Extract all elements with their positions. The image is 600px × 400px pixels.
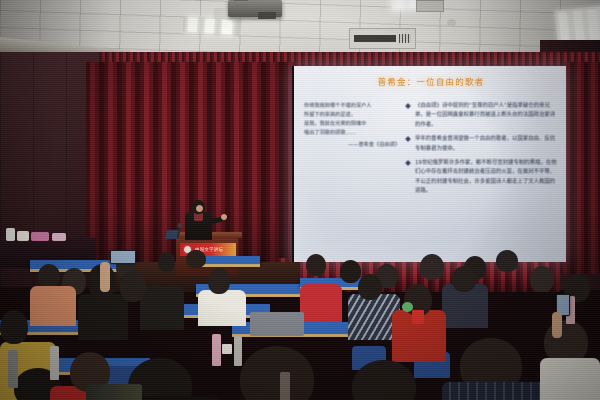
slide-bullet: 《自由颂》诗中提到的“至尊的窃户人”是指拿破仑的亲兄弟，是一位因揭露皇权暴行而被… (406, 102, 558, 130)
cup-icon (222, 344, 232, 354)
stage-curtain-right (560, 62, 600, 274)
audience-area (0, 250, 600, 400)
projector-lens-icon (214, 8, 226, 19)
slide-bullet-list: 《自由颂》诗中提到的“至尊的窃户人”是指拿破仑的亲兄弟，是一位因揭露皇权暴行而被… (400, 102, 558, 202)
lecture-hall-photo: 普希金：一位自由的歌者 你将我拖到哪个不堪的深户人 所留下的崇高的足迹， 是我，… (0, 0, 600, 400)
audience-torso (300, 284, 342, 322)
audience-head (186, 250, 206, 268)
presenter-face (196, 205, 203, 212)
audience-torso (540, 358, 600, 400)
audience-head (0, 310, 28, 344)
bullet-text: 《自由颂》诗中提到的“至尊的窃户人”是指拿破仑的亲兄弟，是一位因揭露皇权暴行而被… (415, 103, 555, 128)
bottle-icon (234, 336, 242, 366)
slide-bullet: 早年的普希金曾渴望做一个自由的歌者，以国家自由、反抗专制暴君为使命。 (406, 135, 558, 154)
presenter-hand (221, 214, 227, 220)
backpack-icon (86, 384, 142, 400)
audience-head (352, 360, 416, 400)
audience-head (306, 254, 326, 276)
audience-head (240, 346, 314, 400)
bottle-icon (50, 346, 59, 380)
pink-folder (31, 232, 49, 241)
vent-icon (416, 0, 444, 12)
bullet-diamond-icon (405, 160, 411, 166)
audience-head (158, 252, 175, 272)
smoke-detector-icon (447, 19, 456, 26)
bullet-diamond-icon (405, 136, 411, 142)
quote-attribution: ——普希金《自由颂》 (304, 141, 400, 150)
bullet-diamond-icon (405, 103, 411, 109)
projector-icon (228, 0, 282, 17)
bottle-icon (280, 372, 290, 400)
bottle-icon (8, 350, 18, 388)
audience-torso (442, 382, 546, 400)
audience-head (420, 254, 444, 280)
pink-bag (52, 233, 66, 241)
papers (17, 231, 29, 241)
quote-line: 所留下的崇高的足迹， (304, 111, 400, 120)
audience-arm (552, 312, 562, 338)
presentation-slide: 普希金：一位自由的歌者 你将我拖到哪个不堪的深户人 所留下的崇高的足迹， 是我，… (294, 66, 566, 262)
audience-torso (78, 294, 128, 340)
bullet-text: 早年的普希金曾渴望做一个自由的歌者，以国家自由、反抗专制暴君为使命。 (415, 136, 555, 151)
bottle-icon (212, 334, 221, 366)
laptop-icon (250, 312, 304, 336)
vent-icon (349, 28, 416, 49)
audience-torso (30, 286, 76, 326)
projection-screen: 普希金：一位自由的歌者 你将我拖到哪个不堪的深户人 所留下的崇高的足迹， 是我，… (292, 66, 566, 262)
audience-head (496, 250, 518, 272)
toy-icon (402, 302, 413, 312)
slide-quote: 你将我拖到哪个不堪的深户人 所留下的崇高的足迹， 是我，我就在光荣的阴魂中 唱出… (304, 102, 400, 202)
audience-head (38, 264, 60, 288)
audience-head (340, 260, 361, 283)
water-cup (6, 228, 15, 241)
bullet-text: 19世纪俄罗斯许多作家，都不断尽宣封建专制的黑暗，在他们心中存在着抨击封建统治者… (415, 160, 557, 194)
slide-bullet: 19世纪俄罗斯许多作家，都不断尽宣封建专制的黑暗，在他们心中存在着抨击封建统治者… (406, 159, 558, 197)
quote-line: 你将我拖到哪个不堪的深户人 (304, 102, 400, 111)
smartphone-icon (110, 250, 136, 264)
quote-line: 唱出了羽歌的颂歌…… (304, 129, 400, 138)
audience-head (530, 266, 554, 292)
audience-head (358, 274, 382, 300)
quote-line: 是我，我就在光荣的阴魂中 (304, 120, 400, 129)
audience-torso (198, 290, 246, 326)
audience-head (452, 266, 476, 292)
cup-icon (412, 310, 424, 324)
audience-head (208, 268, 230, 294)
audience-torso (140, 286, 184, 330)
slide-title: 普希金：一位自由的歌者 (304, 76, 558, 88)
audience-arm (100, 262, 110, 292)
audience-head (120, 270, 146, 302)
